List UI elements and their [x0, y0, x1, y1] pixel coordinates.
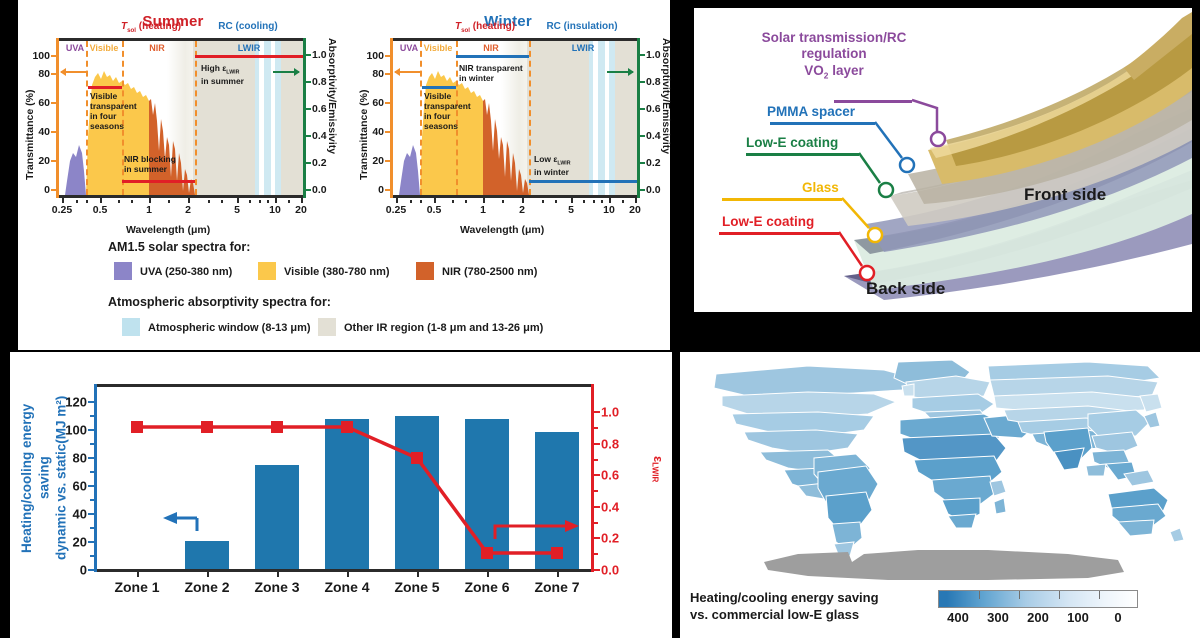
winter-y-left-title: Transmittance (%) [358, 56, 370, 180]
winter-y-right-title: Absorptivity/Emissivity [660, 38, 672, 198]
left-axis-arrow [395, 71, 421, 73]
label-back-side: Back side [866, 279, 945, 299]
legend-heading-solar: AM1.5 solar spectra for: [108, 240, 250, 254]
visible-transmittance-line-winter [422, 86, 456, 89]
legend-heading-atmospheric: Atmospheric absorptivity spectra for: [108, 295, 331, 309]
bar-chart-y-axis-left-title: Heating/cooling energy saving dynamic vs… [18, 382, 70, 574]
legend-swatch-atmospheric-window [122, 318, 140, 336]
figure-root: Summer Winter Tsol (heating) RC (cooling… [0, 0, 1200, 638]
legend-label-uva: UVA (250-380 nm) [140, 266, 232, 278]
band-label-lwir: LWIR [572, 43, 595, 53]
band-divider-nir-lwir [195, 41, 197, 195]
spectra-panel-group: Summer Winter Tsol (heating) RC (cooling… [18, 0, 670, 350]
bar-chart-drawing-area [97, 387, 591, 569]
map-caption: Heating/cooling energy saving vs. commer… [690, 590, 879, 624]
annotation-visible-transparent: Visible transparent in four seasons [424, 91, 471, 131]
summer-spectra-plot: Tsol (heating) RC (cooling) [56, 38, 306, 198]
nir-blocking-line-summer [122, 180, 195, 183]
plot-frame-bottom [56, 195, 306, 198]
world-energy-saving-map: Heating/cooling energy saving vs. commer… [680, 352, 1200, 638]
glass-stack-diagram: Solar transmission/RC regulation VO2 lay… [694, 8, 1192, 312]
summer-y-left-title: Transmittance (%) [24, 56, 36, 180]
band-divider-uva-visible [420, 41, 422, 195]
bar-chart-y-axis-right-title: εLWIR [650, 456, 666, 482]
winter-spectra-plot: Tsol (heating) RC (insulation) UVA [390, 38, 640, 198]
band-divider-nir-lwir [529, 41, 531, 195]
band-label-lwir: LWIR [238, 43, 261, 53]
plot-axis-right-green [303, 38, 306, 198]
map-colorbar [938, 590, 1138, 608]
winter-x-title: Wavelength (μm) [460, 224, 544, 236]
lwir-emissivity-line-summer [195, 55, 303, 58]
left-axis-arrow [61, 71, 87, 73]
bar-chart-frame-bottom [94, 569, 594, 572]
annotation-nir-transparent: NIR transparent in winter [459, 63, 523, 83]
band-label-visible: Visible [90, 43, 119, 53]
winter-plot-area: UVA Visible NIR LWIR Visible transparent… [393, 41, 637, 195]
header-tsol: Tsol (heating) [121, 21, 181, 34]
right-axis-arrow [607, 71, 633, 73]
legend-label-visible: Visible (380-780 nm) [284, 266, 390, 278]
summer-y-right-title: Absorptivity/Emissivity [326, 38, 338, 198]
lwir-emissivity-line-winter [529, 180, 637, 183]
plot-frame-bottom [390, 195, 640, 198]
right-axis-arrow [273, 71, 299, 73]
legend-swatch-uva [114, 262, 132, 280]
header-rc: RC (cooling) [218, 21, 277, 32]
annotation-high-emissivity: High εLWIR in summer [201, 63, 244, 86]
band-label-visible: Visible [424, 43, 453, 53]
band-label-nir: NIR [483, 43, 499, 53]
legend-swatch-other-ir [318, 318, 336, 336]
legend-swatch-nir [416, 262, 434, 280]
header-rc: RC (insulation) [546, 21, 617, 32]
summer-x-title: Wavelength (μm) [126, 224, 210, 236]
bar-chart-plot-box: 0 20 40 60 80 100 120 0.0 0.2 0.4 0.6 [94, 384, 594, 572]
legend-swatch-visible [258, 262, 276, 280]
band-label-nir: NIR [149, 43, 165, 53]
choropleth-world-map [688, 356, 1188, 588]
plot-axis-right-green [637, 38, 640, 198]
nir-transparent-line-winter [456, 55, 529, 58]
energy-saving-bar-chart: Heating/cooling energy saving dynamic vs… [10, 352, 672, 638]
leader-lines [694, 8, 1192, 312]
annotation-visible-transparent: Visible transparent in four seasons [90, 91, 137, 131]
legend-label-atmospheric-window: Atmospheric window (8-13 μm) [148, 322, 311, 334]
band-label-uva: UVA [66, 43, 84, 53]
summer-plot-area: UVA Visible NIR LWIR Visible transparent… [59, 41, 303, 195]
annotation-low-emissivity: Low εLWIR in winter [534, 154, 571, 177]
legend-label-nir: NIR (780-2500 nm) [442, 266, 537, 278]
visible-transmittance-line-summer [88, 86, 122, 89]
band-label-uva: UVA [400, 43, 418, 53]
label-front-side: Front side [1024, 185, 1106, 205]
legend-label-other-ir: Other IR region (1-8 μm and 13-26 μm) [344, 322, 543, 334]
annotation-nir-blocking: NIR blocking in summer [124, 154, 176, 174]
header-tsol: Tsol (heating) [455, 21, 515, 34]
band-divider-uva-visible [86, 41, 88, 195]
axis-assignment-arrows [97, 387, 591, 569]
